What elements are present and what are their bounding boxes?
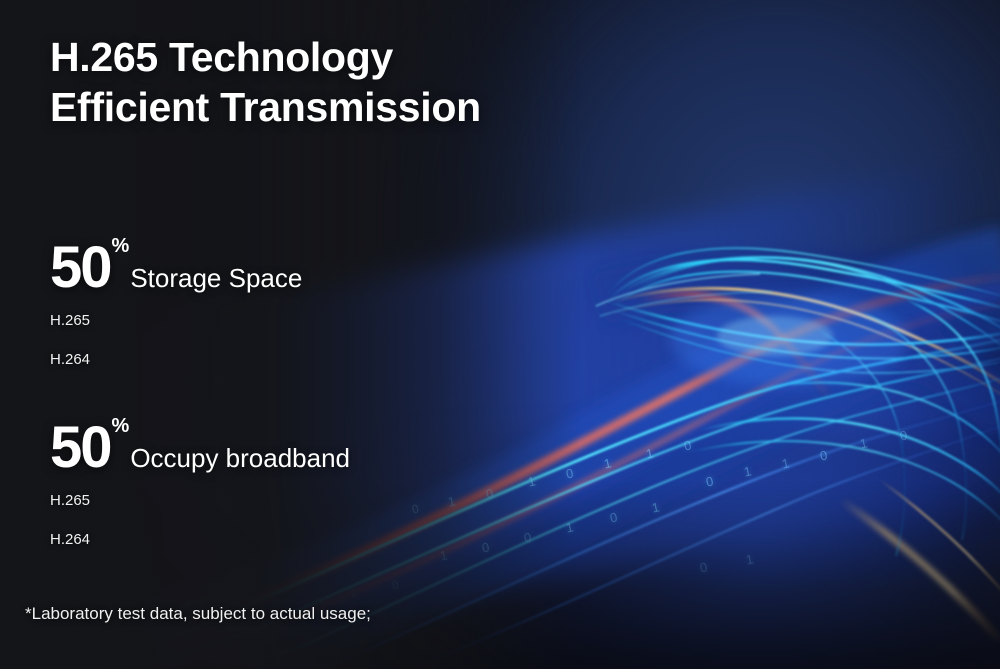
stat-label: Storage Space xyxy=(130,265,302,291)
codec-name: H.265 xyxy=(50,492,117,509)
stat-value: 50 xyxy=(50,244,111,292)
stat-headline: 50 % Occupy broadband xyxy=(50,414,350,472)
codec-name: H.265 xyxy=(50,312,117,329)
codec-bar-row: H.264 xyxy=(50,348,302,370)
codec-bar-group: H.265 H.264 xyxy=(50,489,350,550)
codec-bar-row: H.265 xyxy=(50,309,302,331)
stat-label: Occupy broadband xyxy=(130,445,350,471)
h265-technology-banner: 0 1 0 1 0 1 1 0 1 0 0 1 0 1 0 1 1 0 1 0 … xyxy=(0,0,1000,669)
codec-bar-group: H.265 H.264 xyxy=(50,309,302,370)
stat-unit: % xyxy=(112,236,130,256)
page-title: H.265 Technology Efficient Transmission xyxy=(50,32,481,132)
codec-bar-row: H.265 xyxy=(50,489,350,511)
stat-headline: 50 % Storage Space xyxy=(50,234,302,292)
footnote-disclaimer: *Laboratory test data, subject to actual… xyxy=(25,604,371,624)
stat-value: 50 xyxy=(50,424,111,472)
headline-line-1: H.265 Technology xyxy=(50,32,481,82)
codec-name: H.264 xyxy=(50,351,117,368)
codec-bar-row: H.264 xyxy=(50,528,350,550)
banner-content: H.265 Technology Efficient Transmission … xyxy=(0,0,1000,669)
headline-line-2: Efficient Transmission xyxy=(50,82,481,132)
codec-name: H.264 xyxy=(50,531,117,548)
stat-block-occupy-broadband: 50 % Occupy broadband H.265 H.264 xyxy=(50,414,350,550)
stat-block-storage-space: 50 % Storage Space H.265 H.264 xyxy=(50,234,302,370)
stat-unit: % xyxy=(112,416,130,436)
